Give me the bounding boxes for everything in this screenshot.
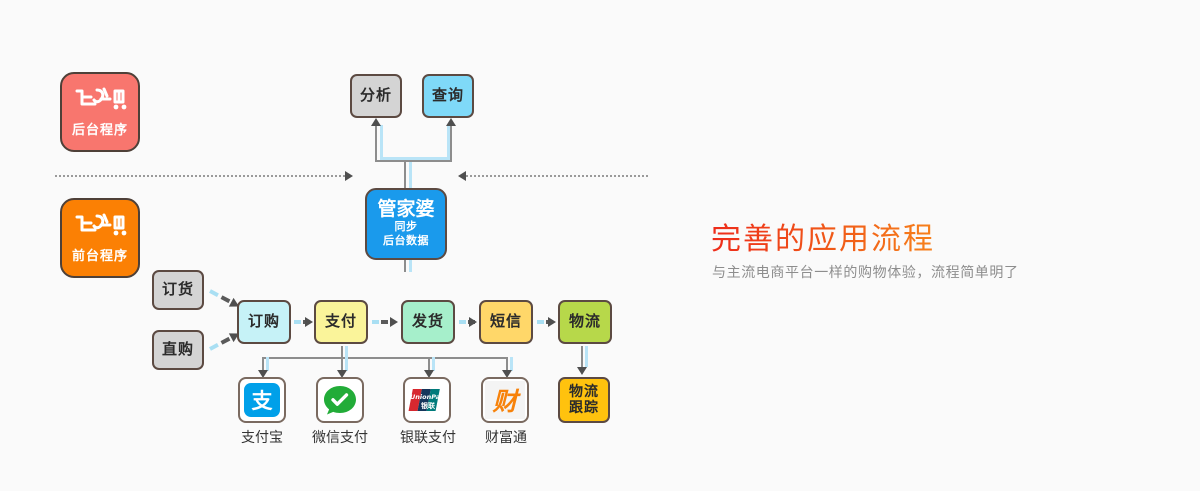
wechat-pay-icon	[320, 381, 360, 419]
node-logistics-tracking[interactable]: 物流 跟踪	[558, 377, 610, 423]
node-sms[interactable]: 短信	[479, 300, 533, 344]
payment-branch-tenpay-highlight	[510, 357, 513, 371]
payment-bus-line	[262, 357, 507, 359]
payment-branch-unionpay-highlight	[432, 357, 435, 371]
page-subtitle: 与主流电商平台一样的购物体验，流程简单明了	[712, 262, 1019, 282]
alipay-icon: 支	[242, 381, 282, 419]
node-payment-label: 支付	[325, 313, 357, 330]
page-title: 完善的应用流程	[711, 214, 935, 258]
t-connector-arrow-right	[446, 118, 456, 126]
payment-branch-wechat-highlight	[345, 357, 348, 371]
node-shipping-label: 发货	[412, 313, 444, 330]
brand-box-line3: 后台数据	[383, 234, 429, 248]
node-order-request-label: 订货	[162, 281, 194, 298]
divider-right	[466, 175, 648, 177]
logistics-to-tracking-highlight	[585, 346, 588, 367]
brandbox-stem-highlight	[409, 260, 412, 272]
tenpay-icon: 财	[485, 381, 525, 419]
svg-text:UnionPay: UnionPay	[410, 393, 445, 401]
node-purchase[interactable]: 订购	[237, 300, 291, 344]
brand-box-name: 管家婆	[377, 200, 434, 220]
node-query-label: 查询	[432, 87, 464, 104]
app-tile-backend-label: 后台程序	[72, 119, 128, 138]
logistics-to-tracking-arrow	[577, 367, 587, 375]
payment-tile-wechat[interactable]	[316, 377, 364, 423]
node-analysis-label: 分析	[360, 87, 392, 104]
svg-text:支: 支	[252, 389, 274, 413]
diagram-canvas: 后台程序 前台程序 分析 查询	[0, 0, 1200, 491]
node-analysis[interactable]: 分析	[350, 74, 402, 118]
t-connector-bar	[375, 160, 452, 162]
payment-label-wechat: 微信支付	[290, 427, 390, 447]
unionpay-icon: UnionPay 银联	[407, 383, 447, 417]
node-logistics-tracking-line1: 物流	[569, 384, 599, 400]
node-shipping[interactable]: 发货	[401, 300, 455, 344]
brand-box-guanjiapo[interactable]: 管家婆 同步 后台数据	[365, 188, 447, 260]
app-tile-backend: 后台程序	[60, 72, 140, 152]
t-connector-stem	[404, 160, 406, 190]
shopping-cart-logo-icon	[73, 86, 127, 116]
app-tile-frontend-label: 前台程序	[72, 245, 128, 264]
t-connector-arrow-left	[371, 118, 381, 126]
node-direct-buy[interactable]: 直购	[152, 330, 204, 370]
payment-tile-unionpay[interactable]: UnionPay 银联	[403, 377, 451, 423]
t-connector-highlight-left	[380, 125, 383, 160]
payment-label-tenpay: 财富通	[456, 427, 556, 447]
payment-tile-tenpay[interactable]: 财	[481, 377, 529, 423]
payment-tile-alipay[interactable]: 支	[238, 377, 286, 423]
t-connector-right	[450, 126, 452, 161]
brandbox-stem	[404, 260, 406, 272]
divider-left-arrow	[345, 171, 353, 181]
node-logistics-label: 物流	[569, 313, 601, 330]
logistics-to-tracking-line	[581, 346, 583, 368]
svg-text:银联: 银联	[421, 401, 436, 410]
divider-right-arrow	[458, 171, 466, 181]
payment-branch-alipay-highlight	[266, 357, 269, 371]
node-order-request[interactable]: 订货	[152, 270, 204, 310]
brand-box-line2: 同步	[395, 220, 418, 234]
t-connector-left	[375, 126, 377, 161]
svg-text:财: 财	[491, 387, 521, 416]
node-logistics[interactable]: 物流	[558, 300, 612, 344]
app-tile-frontend: 前台程序	[60, 198, 140, 278]
node-query[interactable]: 查询	[422, 74, 474, 118]
node-purchase-label: 订购	[248, 313, 280, 330]
shopping-cart-logo-icon	[73, 212, 127, 242]
node-payment[interactable]: 支付	[314, 300, 368, 344]
node-logistics-tracking-line2: 跟踪	[569, 400, 599, 416]
divider-left	[55, 175, 345, 177]
node-direct-buy-label: 直购	[162, 341, 194, 358]
node-sms-label: 短信	[490, 313, 522, 330]
